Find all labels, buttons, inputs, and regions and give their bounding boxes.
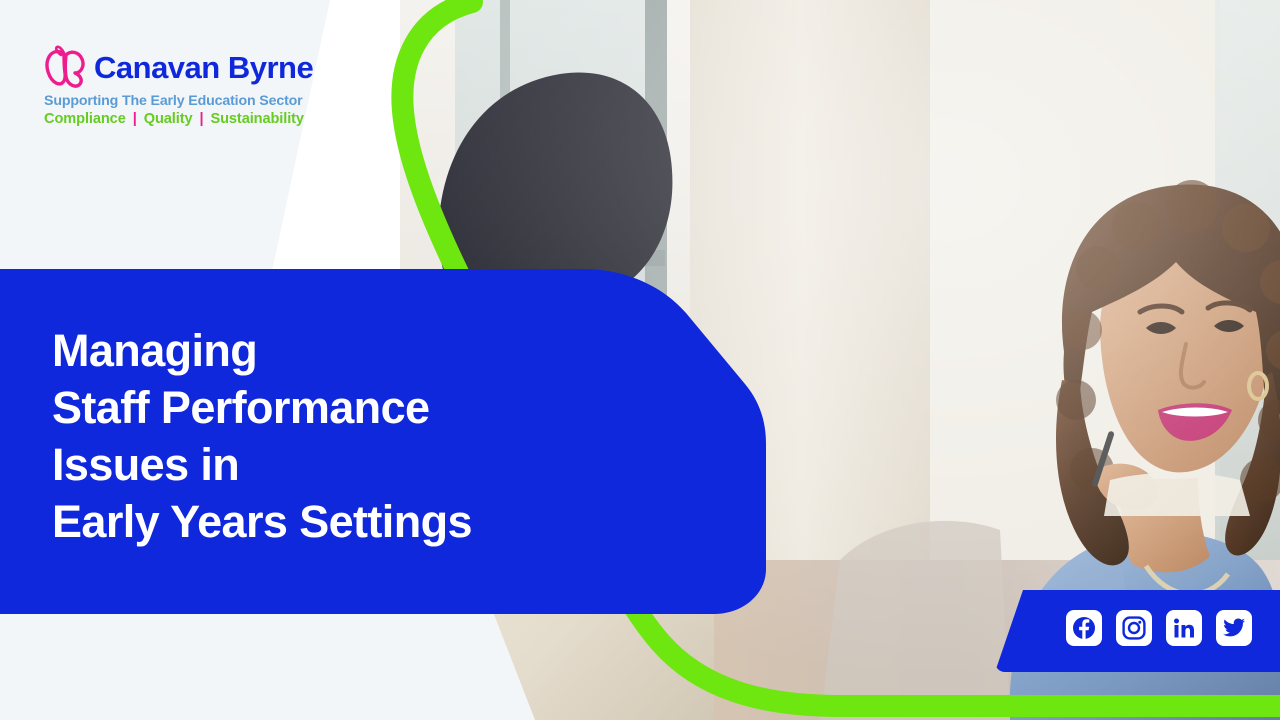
pillar-compliance: Compliance [44,111,126,127]
pillar-separator-2: | [199,111,203,127]
pillar-quality: Quality [144,111,193,127]
social-link-facebook[interactable] [1066,610,1102,646]
title-line-4: Early Years Settings [52,493,672,550]
twitter-icon [1222,616,1246,640]
linkedin-icon [1172,616,1196,640]
logo-pillars: Compliance | Quality | Sustainability [44,111,344,127]
social-link-twitter[interactable] [1216,610,1252,646]
social-link-linkedin[interactable] [1166,610,1202,646]
logo-tagline: Supporting The Early Education Sector [44,93,344,109]
social-links [1066,610,1252,646]
butterfly-apple-icon [44,45,86,89]
instagram-icon [1122,616,1146,640]
footer-backdrop-panel [0,604,560,720]
banner-canvas: Managing Staff Performance Issues in Ear… [0,0,1280,720]
social-link-instagram[interactable] [1116,610,1152,646]
page-title: Managing Staff Performance Issues in Ear… [52,322,672,550]
facebook-icon [1072,616,1096,640]
title-line-3: Issues in [52,436,672,493]
title-line-2: Staff Performance [52,379,672,436]
pillar-sustainability: Sustainability [210,111,303,127]
logo-wordmark: Canavan Byrne [94,52,313,83]
pillar-separator-1: | [133,111,137,127]
brand-logo[interactable]: Canavan Byrne Supporting The Early Educa… [44,44,344,134]
title-line-1: Managing [52,322,672,379]
